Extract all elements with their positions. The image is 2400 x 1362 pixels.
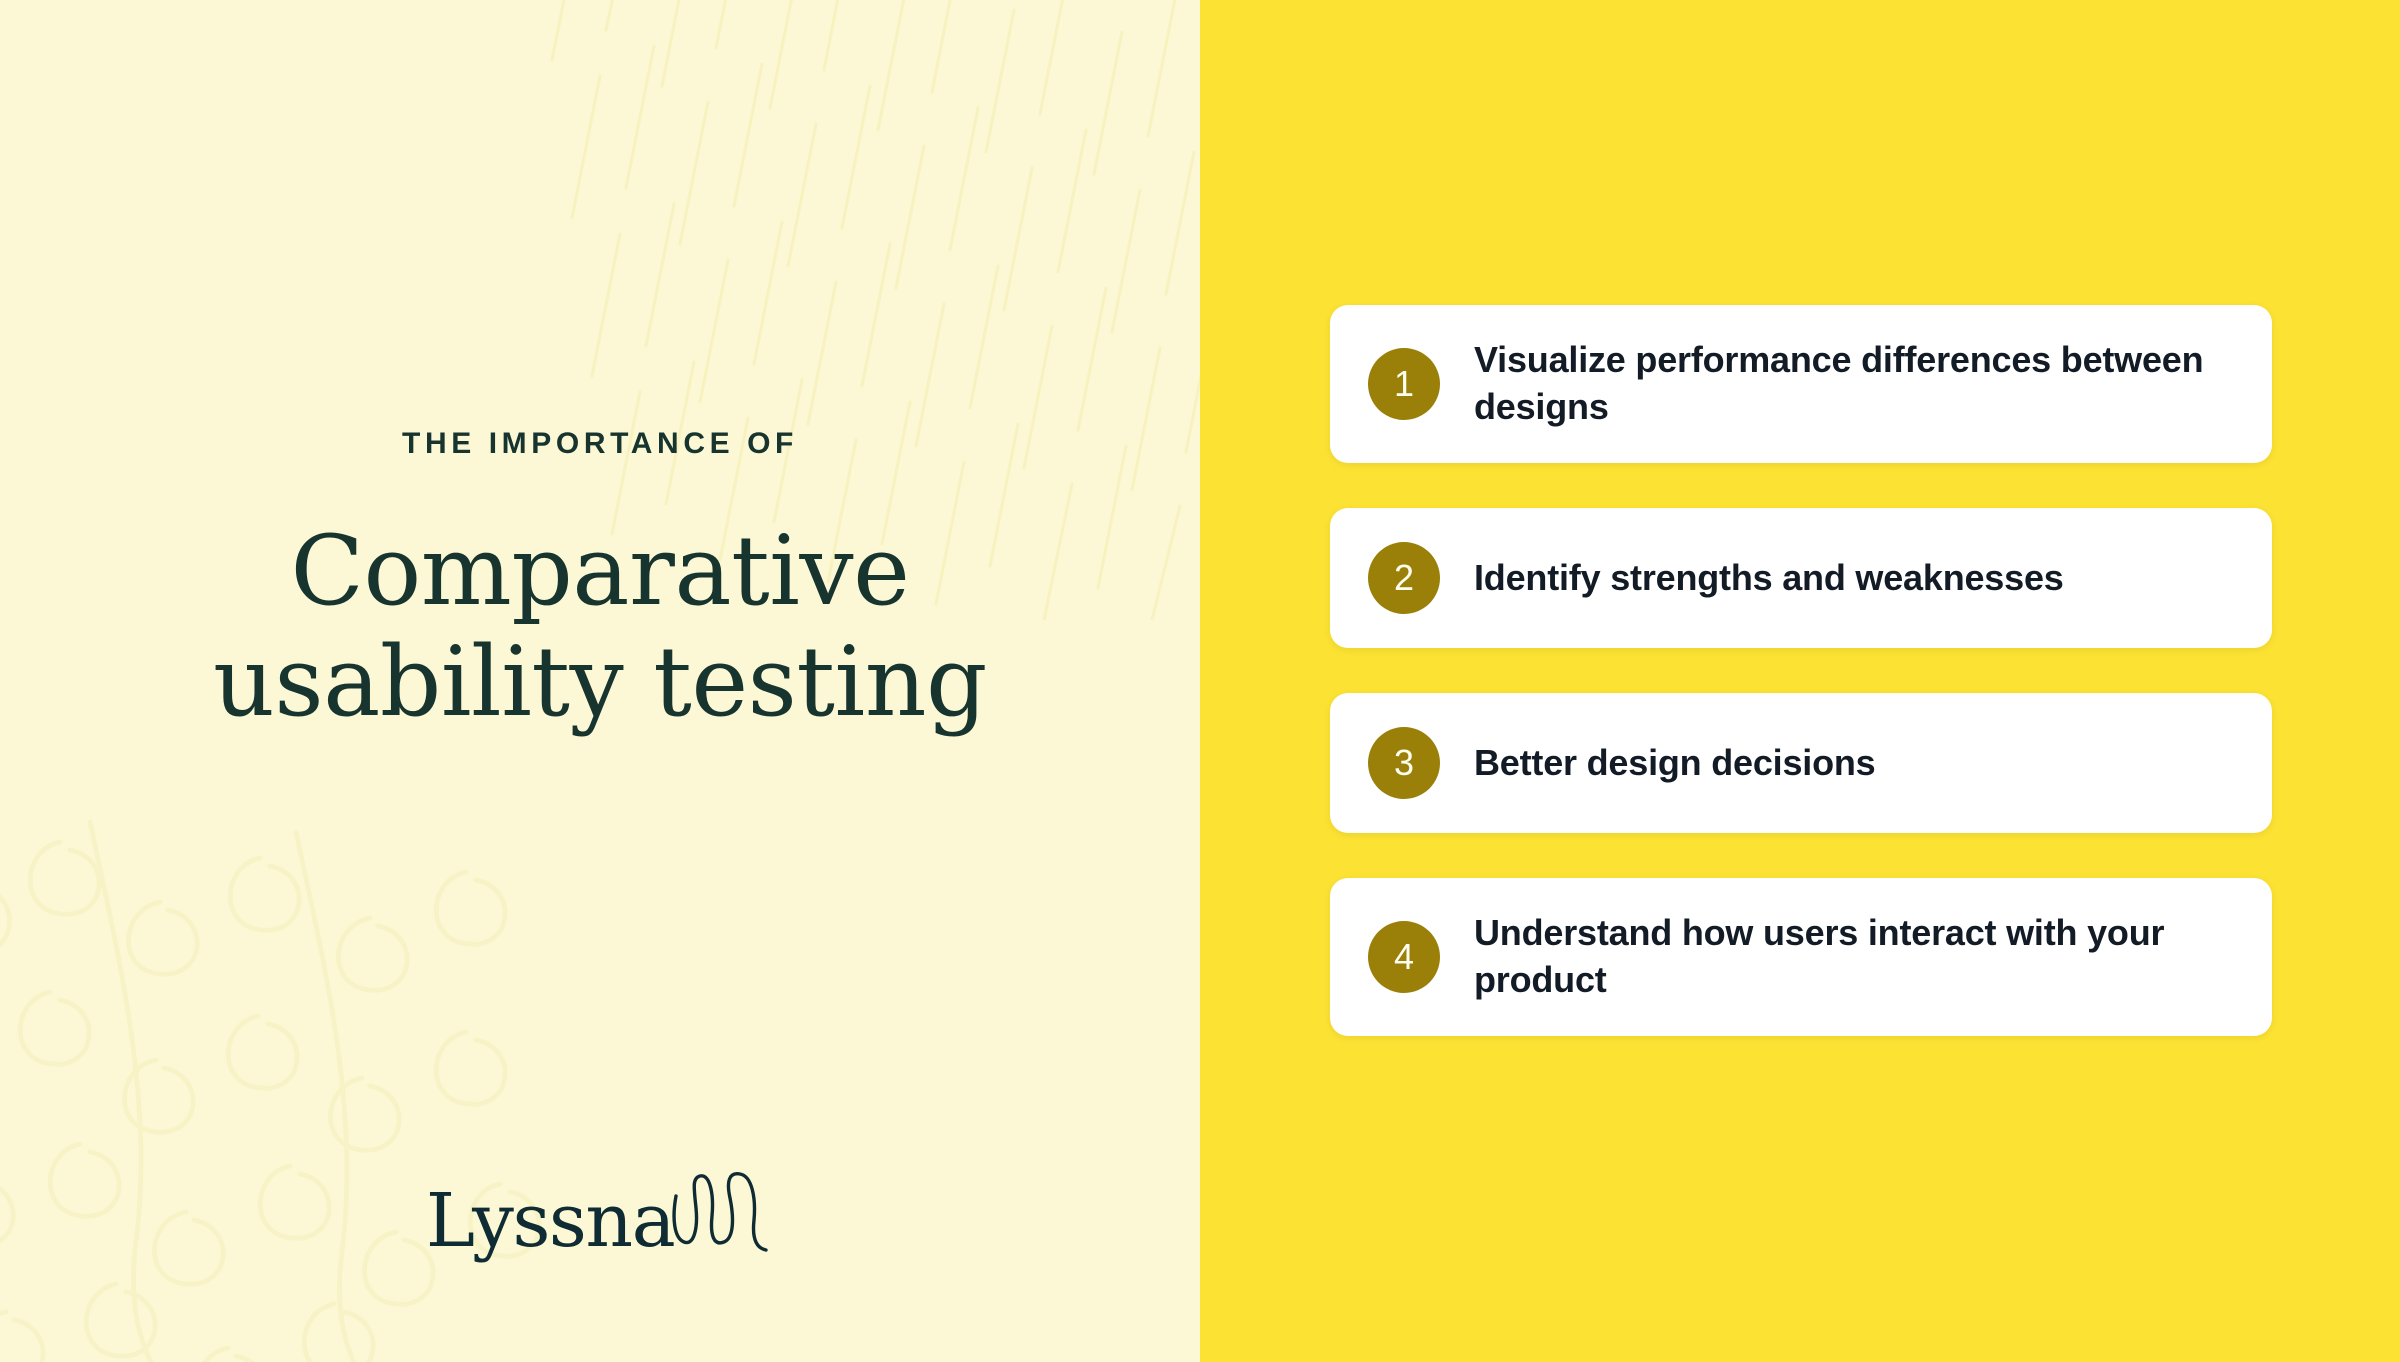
right-panel: 1 Visualize performance differences betw… [1200, 0, 2400, 1362]
benefit-number-badge: 1 [1368, 348, 1440, 420]
left-panel: THE IMPORTANCE OF Comparative usability … [0, 0, 1200, 1362]
triple-loop-squiggle-icon [670, 1170, 774, 1254]
benefit-number-badge: 4 [1368, 921, 1440, 993]
lyssna-logo: Lyssna [0, 1170, 1200, 1258]
benefit-card-text: Visualize performance differences betwee… [1474, 337, 2234, 431]
lyssna-wordmark: Lyssna [426, 1184, 674, 1258]
benefit-card[interactable]: 3 Better design decisions [1330, 693, 2272, 833]
benefit-card[interactable]: 2 Identify strengths and weaknesses [1330, 508, 2272, 648]
infographic-canvas: THE IMPORTANCE OF Comparative usability … [0, 0, 2400, 1362]
left-content: THE IMPORTANCE OF Comparative usability … [0, 0, 1200, 1362]
page-title-line-1: Comparative [0, 516, 1200, 627]
benefit-card[interactable]: 1 Visualize performance differences betw… [1330, 305, 2272, 463]
page-title: Comparative usability testing [0, 516, 1200, 739]
benefit-number-badge: 2 [1368, 542, 1440, 614]
page-title-line-2: usability testing [0, 627, 1200, 738]
benefit-number-badge: 3 [1368, 727, 1440, 799]
benefit-card-text: Better design decisions [1474, 740, 1876, 787]
benefit-card-text: Understand how users interact with your … [1474, 910, 2234, 1004]
benefit-card-list: 1 Visualize performance differences betw… [1330, 305, 2272, 1081]
benefit-card[interactable]: 4 Understand how users interact with you… [1330, 878, 2272, 1036]
eyebrow-label: THE IMPORTANCE OF [0, 427, 1200, 461]
benefit-card-text: Identify strengths and weaknesses [1474, 555, 2064, 602]
